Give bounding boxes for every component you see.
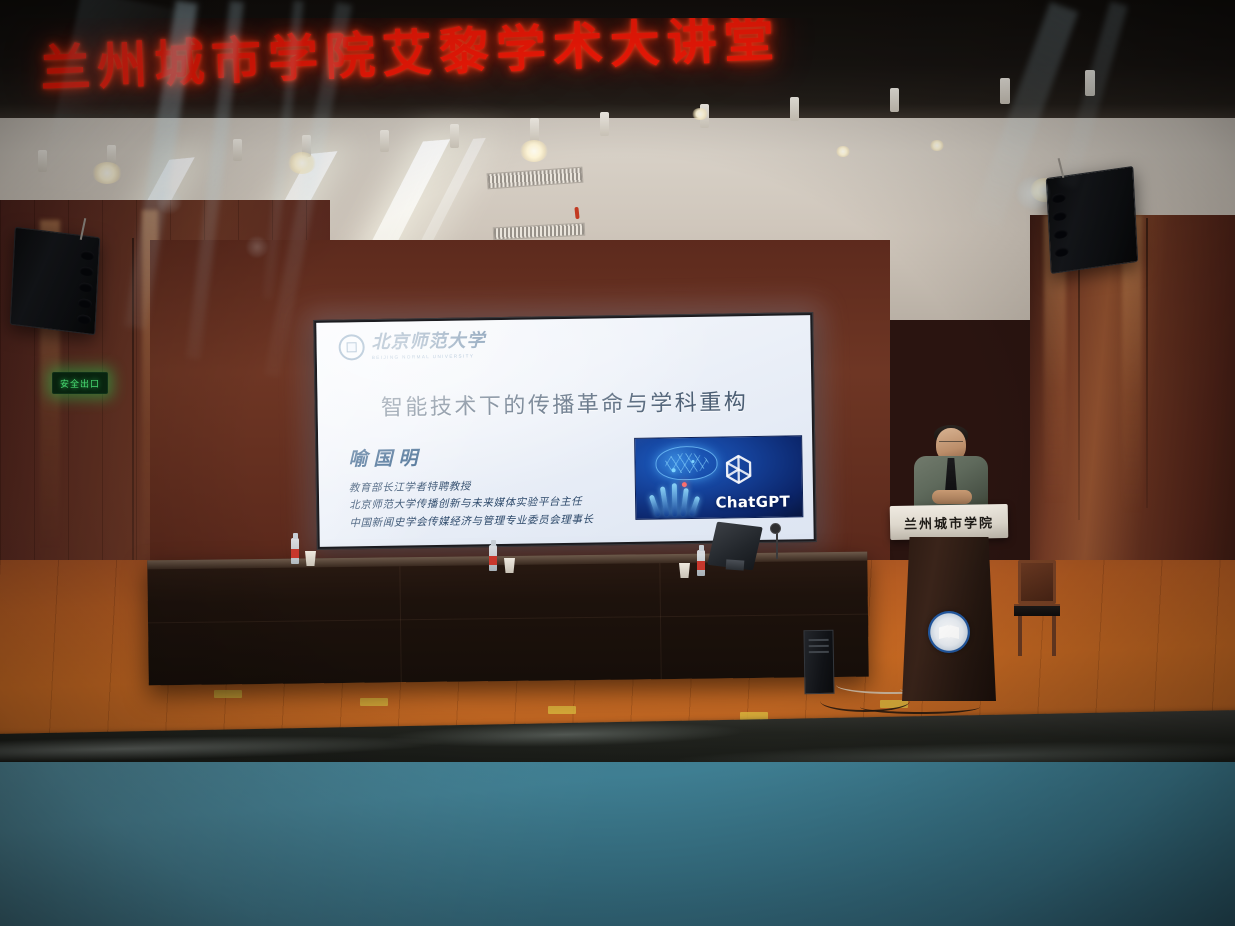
eyeglasses-icon <box>939 441 963 447</box>
chair-back <box>1018 560 1056 604</box>
podium-sign-text: 兰州城市学院 <box>904 512 994 533</box>
podium: 兰州城市学院 <box>890 505 1008 701</box>
chatgpt-illustration: ChatGPT <box>634 435 803 520</box>
ceiling-spotlight <box>288 152 316 174</box>
ceiling-spotlight <box>930 140 944 151</box>
university-logo: 北京师范大学 BEIJING NORMAL UNIVERSITY <box>338 332 485 360</box>
university-name-en: BEIJING NORMAL UNIVERSITY <box>372 353 486 360</box>
track-light-fixture <box>380 130 389 152</box>
wall-panel-seam <box>1146 218 1148 508</box>
track-light-fixture <box>450 124 459 148</box>
track-light-fixture <box>530 118 539 142</box>
led-banner: 兰州城市学院艾黎学术大讲堂 <box>0 18 1235 114</box>
paper-cup[interactable] <box>305 551 316 566</box>
paper-cup[interactable] <box>679 563 690 578</box>
led-banner-text: 兰州城市学院艾黎学术大讲堂 <box>39 18 970 96</box>
openai-logo-icon <box>715 449 762 496</box>
floor-marker-tape <box>548 706 576 714</box>
person-hands <box>932 490 972 504</box>
ceiling-spotlight <box>92 162 122 184</box>
track-light-fixture <box>38 150 47 172</box>
water-bottle[interactable] <box>489 545 497 571</box>
slide-surface: 北京师范大学 BEIJING NORMAL UNIVERSITY 智能技术下的传… <box>316 315 813 547</box>
university-name: 北京师范大学 <box>371 332 485 352</box>
pc-tower[interactable] <box>803 630 834 695</box>
podium-nameplate: 兰州城市学院 <box>890 504 1009 540</box>
speaker-name: 喻国明 <box>348 440 648 472</box>
side-chair[interactable] <box>1012 560 1060 656</box>
ceiling-spotlight <box>520 140 548 162</box>
left-line-array-speaker <box>10 227 101 335</box>
foreground-floor <box>0 762 1235 926</box>
floor-marker-tape <box>214 690 242 698</box>
university-emblem-icon <box>928 611 970 653</box>
speaker-info-block: 喻国明 教育部长江学者特聘教授 北京师范大学传播创新与未来媒体实验平台主任 中国… <box>348 440 649 533</box>
floor-cable <box>860 700 980 714</box>
water-bottle[interactable] <box>291 538 299 564</box>
floor-marker-tape <box>360 698 388 706</box>
right-line-array-speaker <box>1046 166 1139 274</box>
lecture-hall-photo: 兰州城市学院艾黎学术大讲堂 安全出口 <box>0 0 1235 926</box>
chatgpt-label: ChatGPT <box>715 492 790 511</box>
exit-sign: 安全出口 <box>52 372 108 394</box>
podium-body <box>902 537 996 701</box>
water-bottle[interactable] <box>697 550 705 576</box>
hand-icon <box>648 476 713 517</box>
paper-cup[interactable] <box>504 558 515 573</box>
chair-leg <box>1052 616 1056 656</box>
track-light-fixture <box>600 112 609 136</box>
chair-seat <box>1014 604 1060 616</box>
monitor-stand <box>726 559 745 570</box>
chair-leg <box>1018 616 1022 656</box>
projection-screen: 北京师范大学 BEIJING NORMAL UNIVERSITY 智能技术下的传… <box>313 312 817 550</box>
ceiling-spotlight <box>836 146 850 157</box>
exit-sign-label: 安全出口 <box>60 377 100 390</box>
track-light-fixture <box>233 139 242 161</box>
microphone-icon <box>770 523 781 534</box>
university-seal-icon <box>338 334 364 360</box>
slide-title: 智能技术下的传播革命与学科重构 <box>317 383 811 423</box>
speaker-person <box>912 428 990 514</box>
